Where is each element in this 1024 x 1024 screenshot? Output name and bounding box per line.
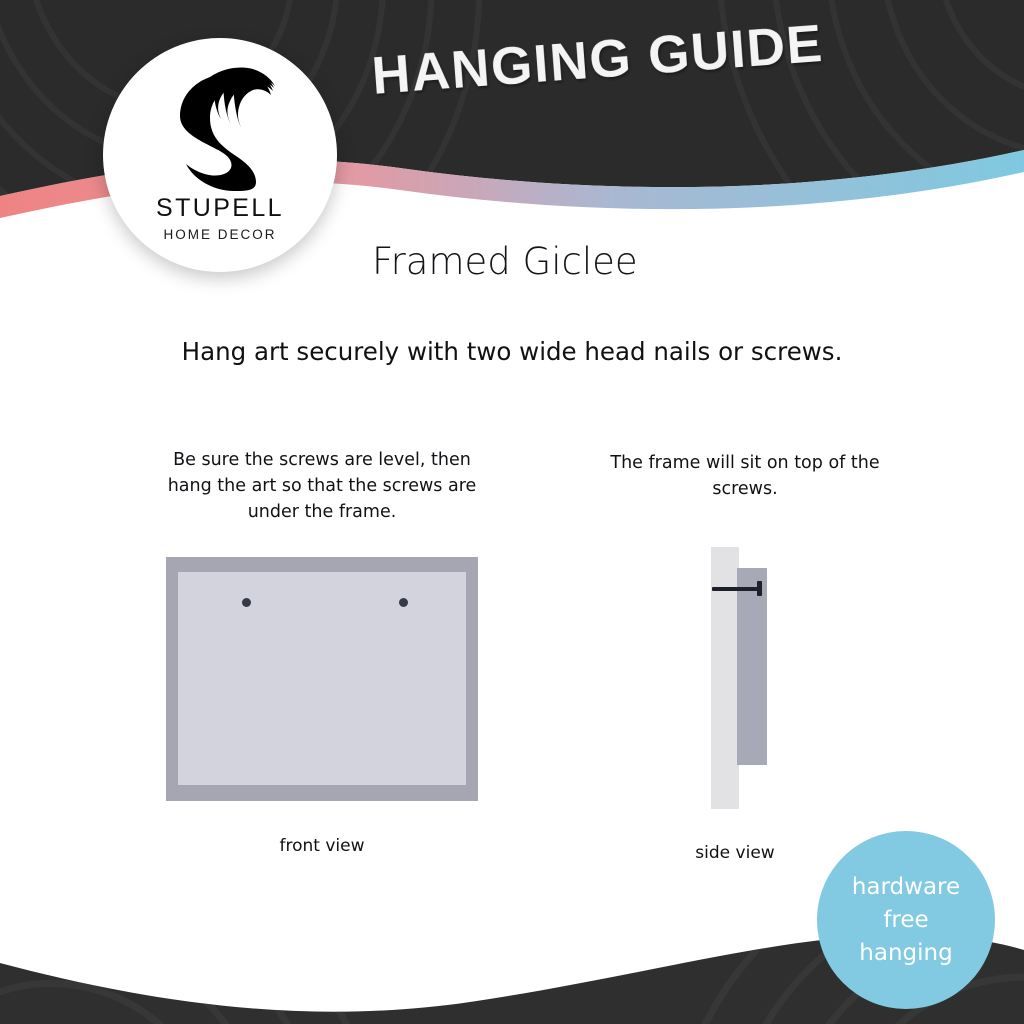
side-view-diagram: [700, 540, 810, 820]
brand-name: STUPELL: [156, 196, 284, 221]
front-view-label: front view: [200, 836, 444, 856]
promo-badge-line-2: free: [883, 904, 928, 937]
product-type-title: Framed Giclee: [372, 240, 638, 283]
screw-dot-left-icon: [242, 598, 251, 607]
brand-tagline: HOME DECOR: [163, 228, 276, 242]
promo-badge-line-3: hanging: [859, 937, 952, 970]
nail-head-icon: [757, 581, 762, 596]
front-view-diagram: [166, 557, 478, 801]
brand-logo-badge: STUPELL HOME DECOR: [103, 38, 337, 272]
lead-instruction-text: Hang art securely with two wide head nai…: [0, 337, 1024, 366]
promo-badge: hardware free hanging: [817, 831, 995, 1009]
front-view-caption: Be sure the screws are level, then hang …: [150, 447, 494, 525]
side-view-frame: [737, 568, 767, 765]
promo-badge-line-1: hardware: [852, 871, 960, 904]
screw-dot-right-icon: [399, 598, 408, 607]
front-view-mat-area: [178, 572, 466, 785]
side-view-label: side view: [640, 843, 830, 863]
side-view-caption: The frame will sit on top of the screws.: [595, 450, 895, 502]
hanging-guide-page: HANGING GUIDE STUPELL HOME DECOR Framed …: [0, 0, 1024, 1024]
nail-shaft-icon: [712, 587, 760, 591]
stupell-swoosh-logo-icon: [162, 64, 278, 192]
